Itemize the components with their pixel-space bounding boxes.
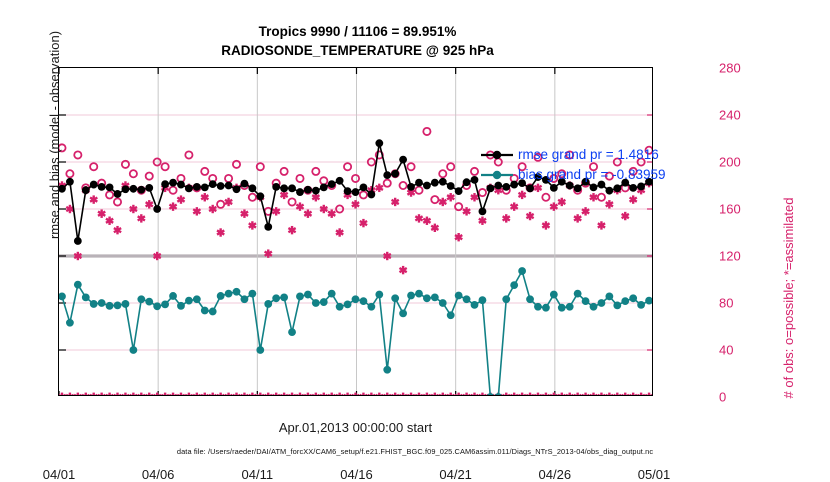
- right-tick-0: 0: [719, 390, 726, 405]
- x-tick-04-21: 04/21: [439, 467, 472, 482]
- plot-inner: [59, 68, 652, 395]
- data-layer: [59, 68, 652, 395]
- title-line-1: Tropics 9990 / 11106 = 89.951%: [0, 22, 715, 41]
- x-tick-05-01: 05/01: [638, 467, 671, 482]
- right-axis-label: # of obs: o=possible; *=assimilated: [781, 128, 796, 468]
- legend-item-bias[interactable]: bias grand pr = -0.83959: [480, 165, 665, 185]
- left-axis-label: rmse and bias (model - observation): [47, 0, 62, 300]
- legend-marker-bias-icon: [480, 168, 514, 182]
- x-tick-04-16: 04/16: [340, 467, 373, 482]
- chart-legend: rmse grand pr = 1.4816 bias grand pr = -…: [480, 145, 665, 185]
- page-title: Tropics 9990 / 11106 = 89.951% RADIOSOND…: [0, 22, 715, 60]
- legend-label-bias: bias grand pr = -0.83959: [518, 165, 665, 185]
- right-tick-40: 40: [719, 343, 733, 358]
- chart-page: Tropics 9990 / 11106 = 89.951% RADIOSOND…: [0, 0, 830, 470]
- legend-label-rmse: rmse grand pr = 1.4816: [518, 145, 659, 165]
- title-line-2: RADIOSONDE_TEMPERATURE @ 925 hPa: [0, 41, 715, 60]
- data-file-note: data file: /Users/raeder/DAI/ATM_forcXX/…: [0, 447, 830, 456]
- right-tick-120: 120: [719, 249, 741, 264]
- right-tick-240: 240: [719, 108, 741, 123]
- right-tick-160: 160: [719, 202, 741, 217]
- plot-area: rmse and bias (model - observation) # of…: [58, 67, 653, 396]
- x-tick-04-26: 04/26: [539, 467, 572, 482]
- right-tick-80: 80: [719, 296, 733, 311]
- x-tick-04-01: 04/01: [43, 467, 76, 482]
- x-axis-label: Apr.01,2013 00:00:00 start: [58, 420, 653, 435]
- legend-marker-rmse-icon: [480, 148, 514, 162]
- x-tick-04-06: 04/06: [142, 467, 175, 482]
- right-tick-200: 200: [719, 155, 741, 170]
- right-tick-280: 280: [719, 61, 741, 76]
- x-tick-04-11: 04/11: [242, 467, 274, 482]
- legend-item-rmse[interactable]: rmse grand pr = 1.4816: [480, 145, 665, 165]
